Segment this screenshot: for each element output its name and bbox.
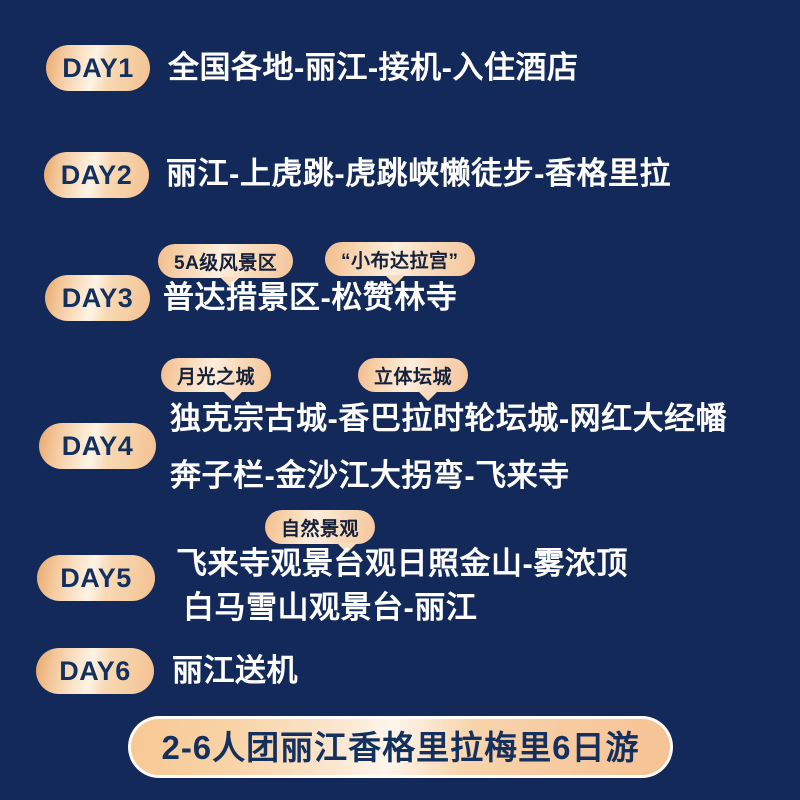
day-tag-3-1: 5A级风景区 bbox=[158, 244, 293, 278]
day-tag-4-1: 月光之城 bbox=[161, 358, 271, 392]
day-pill-1[interactable]: DAY1 bbox=[46, 45, 150, 91]
day-pill-3[interactable]: DAY3 bbox=[45, 275, 150, 321]
day-tag-3-2-label: “小布达拉宫” bbox=[341, 246, 459, 273]
tag-tail-icon bbox=[223, 391, 243, 401]
day-text-2-line-1: 丽江-上虎跳-虎跳峡懒徒步-香格里拉 bbox=[166, 158, 671, 190]
day-pill-4[interactable]: DAY4 bbox=[39, 423, 156, 469]
day-text-3-line-1: 普达措景区-松赞林寺 bbox=[163, 282, 457, 314]
day-pill-label-6: DAY6 bbox=[59, 658, 131, 685]
bottom-banner[interactable]: 2-6人团丽江香格里拉梅里6日游 bbox=[128, 716, 673, 778]
day-text-6-line-1: 丽江送机 bbox=[172, 655, 298, 687]
day-pill-label-1: DAY1 bbox=[62, 55, 134, 82]
day-tag-4-1-label: 月光之城 bbox=[177, 362, 255, 389]
bottom-banner-label: 2-6人团丽江香格里拉梅里6日游 bbox=[161, 731, 639, 764]
day-tag-4-2-label: 立体坛城 bbox=[374, 362, 452, 389]
day-tag-3-1-label: 5A级风景区 bbox=[174, 248, 277, 275]
day-tag-5-1-label: 自然景观 bbox=[281, 514, 359, 541]
day-pill-6[interactable]: DAY6 bbox=[36, 648, 154, 694]
day-text-4-line-1: 独克宗古城-香巴拉时轮坛城-网红大经幡 bbox=[170, 403, 727, 435]
itinerary-poster: DAY1 全国各地-丽江-接机-入住酒店 DAY2 丽江-上虎跳-虎跳峡懒徒步-… bbox=[0, 0, 800, 800]
day-pill-label-3: DAY3 bbox=[62, 285, 134, 312]
day-text-5-line-2: 白马雪山观景台-丽江 bbox=[183, 592, 477, 624]
day-text-5-line-1: 飞来寺观景台观日照金山-雾浓顶 bbox=[176, 548, 628, 580]
day-text-1-line-1: 全国各地-丽江-接机-入住酒店 bbox=[168, 52, 578, 84]
day-pill-label-5: DAY5 bbox=[60, 565, 132, 592]
day-tag-4-2: 立体坛城 bbox=[358, 358, 468, 392]
day-pill-label-4: DAY4 bbox=[62, 433, 134, 460]
day-tag-5-1: 自然景观 bbox=[265, 510, 375, 544]
day-pill-5[interactable]: DAY5 bbox=[37, 555, 155, 601]
day-tag-3-2: “小布达拉宫” bbox=[325, 242, 475, 276]
day-pill-2[interactable]: DAY2 bbox=[44, 152, 149, 198]
day-text-4-line-2: 奔子栏-金沙江大拐弯-飞来寺 bbox=[170, 460, 570, 492]
tag-tail-icon bbox=[418, 391, 438, 401]
day-pill-label-2: DAY2 bbox=[61, 162, 133, 189]
